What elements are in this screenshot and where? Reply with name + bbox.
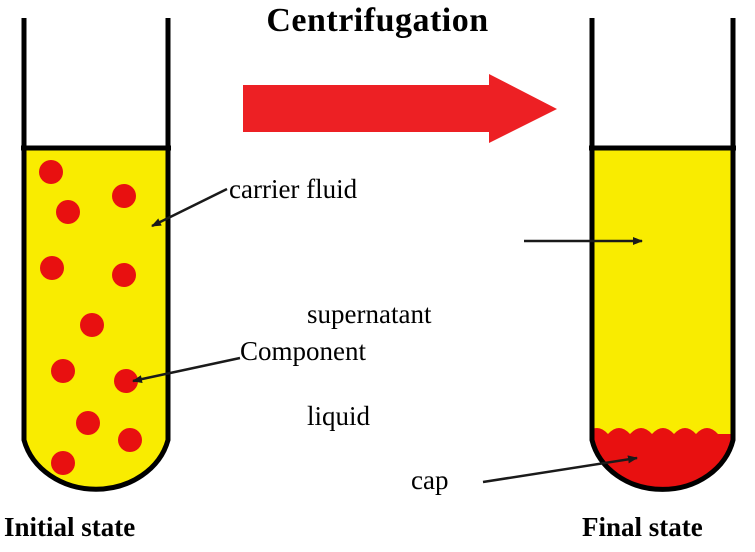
supernatant-line-1: supernatant	[307, 297, 431, 331]
supernatant-line-2: liquid	[307, 399, 431, 433]
final-state-caption: Final state	[582, 512, 703, 543]
cap-label: cap	[411, 465, 448, 496]
centrifugation-arrow-icon	[243, 74, 557, 143]
diagram-title: Centrifugation	[0, 2, 755, 40]
carrier-fluid-label: carrier fluid	[229, 174, 357, 205]
final-state-tube	[586, 18, 740, 512]
component-label: Component	[240, 336, 366, 367]
initial-state-tube	[18, 18, 174, 508]
centrifugation-diagram: Centrifugation carrier fluid supernatant…	[0, 0, 755, 552]
initial-state-caption: Initial state	[4, 512, 135, 543]
